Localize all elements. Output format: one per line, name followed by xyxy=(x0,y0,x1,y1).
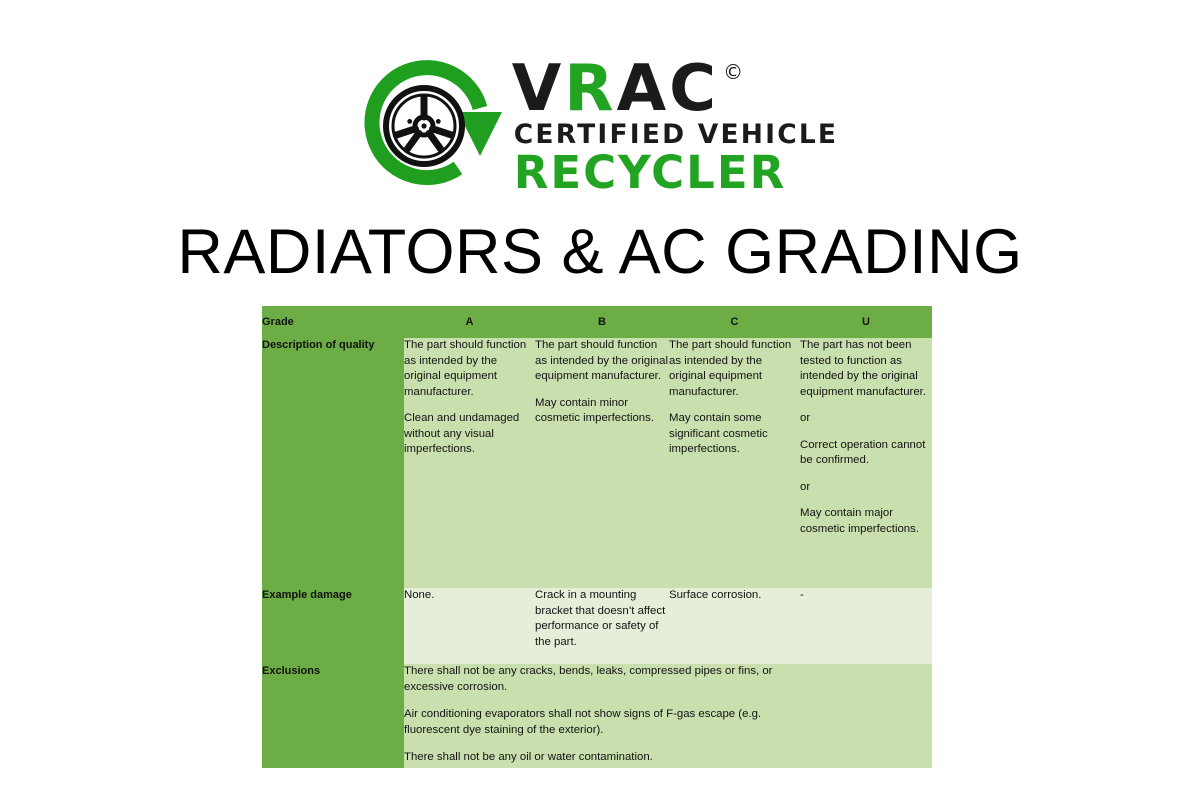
table-row-exclusions: Exclusions There shall not be any cracks… xyxy=(262,664,932,768)
cell-example-b: Crack in a mounting bracket that doesn’t… xyxy=(535,588,669,664)
cell-text: Surface corrosion. xyxy=(669,588,800,604)
grading-table: Grade A B C U Description of quality The… xyxy=(262,306,932,768)
cell-text: May contain some significant cosmetic im… xyxy=(669,411,800,458)
cell-description-b: The part should function as intended by … xyxy=(535,338,669,588)
copyright-icon: © xyxy=(723,62,746,82)
logo-recycler: RECYCLER xyxy=(514,150,787,196)
cell-text: or xyxy=(800,411,932,427)
row-label-description: Description of quality xyxy=(262,338,404,588)
page-title: RADIATORS & AC GRADING xyxy=(0,216,1200,288)
cell-description-a: The part should function as intended by … xyxy=(404,338,535,588)
cell-text: None. xyxy=(404,588,535,604)
header-grade-a: A xyxy=(404,306,535,338)
header-grade-c: C xyxy=(669,306,800,338)
row-label-exclusions: Exclusions xyxy=(262,664,404,768)
cell-text: or xyxy=(800,480,932,496)
header-grade-u: U xyxy=(800,306,932,338)
cell-description-c: The part should function as intended by … xyxy=(669,338,800,588)
wordmark-v: V xyxy=(512,60,565,119)
table-row-example-damage: Example damage None. Crack in a mounting… xyxy=(262,588,932,664)
vrac-wordmark: VRAC© xyxy=(512,60,746,119)
cell-text: May contain major cosmetic imperfections… xyxy=(800,506,932,537)
cell-text: Clean and undamaged without any visual i… xyxy=(404,411,535,458)
recycle-arrow-wheel-icon xyxy=(362,56,512,196)
logo-inner: VRAC© CERTIFIED VEHICLE RECYCLER xyxy=(362,56,838,196)
cell-text: There shall not be any oil or water cont… xyxy=(404,750,800,766)
cell-text: Crack in a mounting bracket that doesn’t… xyxy=(535,588,669,650)
cell-exclusions-u xyxy=(800,664,932,768)
table-header-row: Grade A B C U xyxy=(262,306,932,338)
row-label-example-damage: Example damage xyxy=(262,588,404,664)
wordmark-r: R xyxy=(564,60,616,119)
cell-text: The part should function as intended by … xyxy=(669,338,800,400)
cell-description-u: The part has not been tested to function… xyxy=(800,338,932,588)
cell-text: The part should function as intended by … xyxy=(404,338,535,400)
cell-text: There shall not be any cracks, bends, le… xyxy=(404,664,800,695)
logo-subline: CERTIFIED VEHICLE xyxy=(514,120,838,149)
cell-exclusions-abc: There shall not be any cracks, bends, le… xyxy=(404,664,800,768)
cell-text: Air conditioning evaporators shall not s… xyxy=(404,707,800,738)
brand-logo: VRAC© CERTIFIED VEHICLE RECYCLER xyxy=(0,56,1200,206)
cell-text: - xyxy=(800,588,932,604)
cell-text: Correct operation cannot be confirmed. xyxy=(800,438,932,469)
cell-text: May contain minor cosmetic imperfections… xyxy=(535,396,669,427)
cell-text: The part should function as intended by … xyxy=(535,338,669,385)
logo-wordmark: VRAC© CERTIFIED VEHICLE RECYCLER xyxy=(512,56,838,196)
wordmark-ac: AC xyxy=(617,60,720,119)
header-grade: Grade xyxy=(262,306,404,338)
header-grade-b: B xyxy=(535,306,669,338)
cell-example-u: - xyxy=(800,588,932,664)
cell-text: The part has not been tested to function… xyxy=(800,338,932,400)
cell-example-a: None. xyxy=(404,588,535,664)
table-row-description: Description of quality The part should f… xyxy=(262,338,932,588)
cell-example-c: Surface corrosion. xyxy=(669,588,800,664)
